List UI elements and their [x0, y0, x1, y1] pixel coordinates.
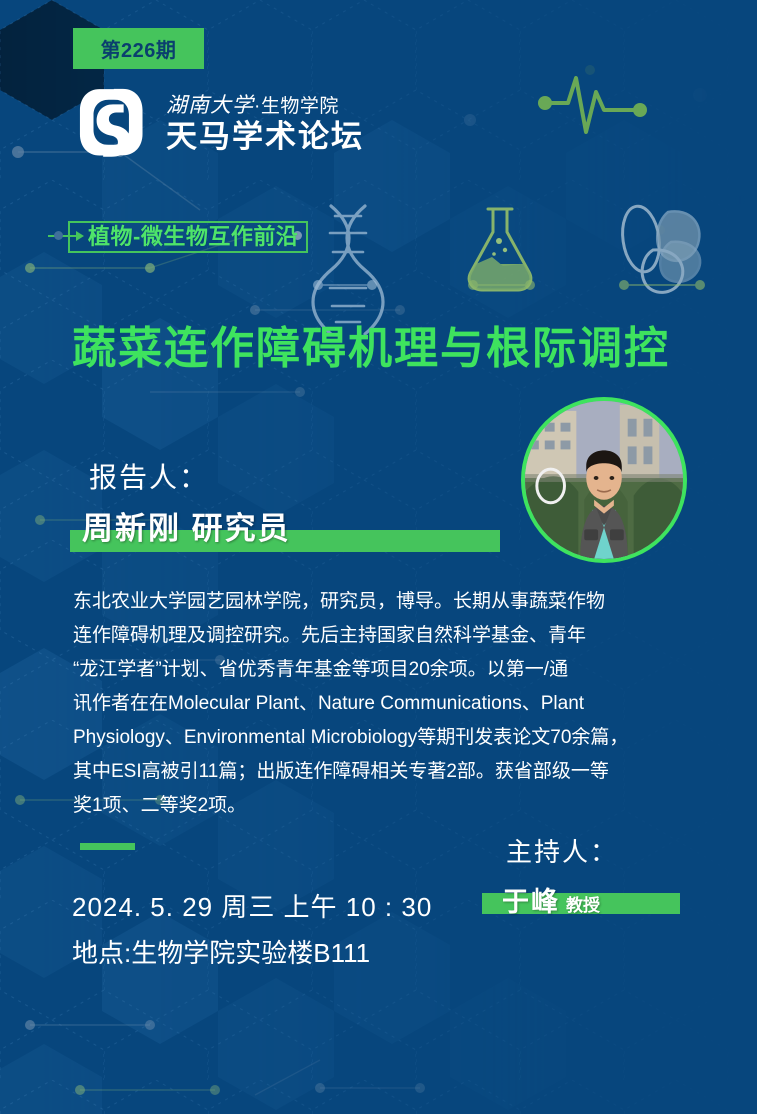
host-name: 于峰 — [502, 887, 560, 917]
bio-line: 东北农业大学园艺园林学院，研究员，博导。长期从事蔬菜作物 — [73, 585, 693, 619]
seminar-poster: 第226期 湖南大学·生物学院 天马学术论坛 植物-微生物互作前沿 蔬菜连作障碍… — [0, 0, 757, 1114]
flask-icon — [469, 209, 531, 290]
bio-line: 奖1项、二等奖2项。 — [73, 789, 693, 823]
topic-strip: 植物-微生物互作前沿 — [48, 213, 310, 255]
bio-line: 连作障碍机理及调控研究。先后主持国家自然科学基金、青年 — [73, 619, 693, 653]
speaker-avatar — [521, 397, 687, 563]
logo-forum-name: 天马学术论坛 — [166, 120, 364, 154]
issue-badge: 第226期 — [73, 28, 204, 69]
avatar-photo — [525, 401, 683, 559]
bio-line: Physiology、Environmental Microbiology等期刊… — [73, 721, 693, 755]
page-title: 蔬菜连作障碍机理与根际调控 — [72, 312, 670, 376]
event-place: 地点:生物学院实验楼B111 — [72, 933, 370, 970]
bio-line: “龙江学者”计划、省优秀青年基金等项目20余项。以第一/通 — [73, 653, 693, 687]
topic-arrow-icon — [76, 231, 84, 241]
topic-label: 植物-微生物互作前沿 — [88, 219, 298, 251]
emblem-icon — [72, 82, 154, 166]
forum-logo: 湖南大学·生物学院 天马学术论坛 — [72, 82, 364, 166]
speaker-bio: 东北农业大学园艺园林学院，研究员，博导。长期从事蔬菜作物 连作障碍机理及调控研究… — [73, 585, 693, 823]
leaf-icon — [619, 204, 701, 293]
logo-department-name: ·生物学院 — [254, 96, 339, 117]
speaker-label: 报告人： — [89, 456, 209, 496]
topic-lead-line — [48, 235, 78, 237]
speaker-name: 周新刚 研究员 — [82, 503, 291, 548]
host-title: 教授 — [566, 896, 600, 915]
topic-dot-left-icon — [54, 231, 63, 240]
event-datetime: 2024. 5. 29 周三 上午 10 : 30 — [72, 887, 432, 924]
logo-university-name: 湖南大学 — [166, 93, 254, 117]
bio-line: 其中ESI高被引11篇；出版连作障碍相关专著2部。获省部级一等 — [73, 755, 693, 789]
section-divider — [80, 843, 135, 850]
host-label: 主持人： — [506, 832, 618, 869]
bio-line: 讯作者在在Molecular Plant、Nature Communicatio… — [73, 687, 693, 721]
host-name-wrap: 于峰教授 — [502, 880, 600, 919]
logo-university-line: 湖南大学·生物学院 — [166, 94, 364, 118]
heartbeat-icon — [538, 78, 647, 132]
